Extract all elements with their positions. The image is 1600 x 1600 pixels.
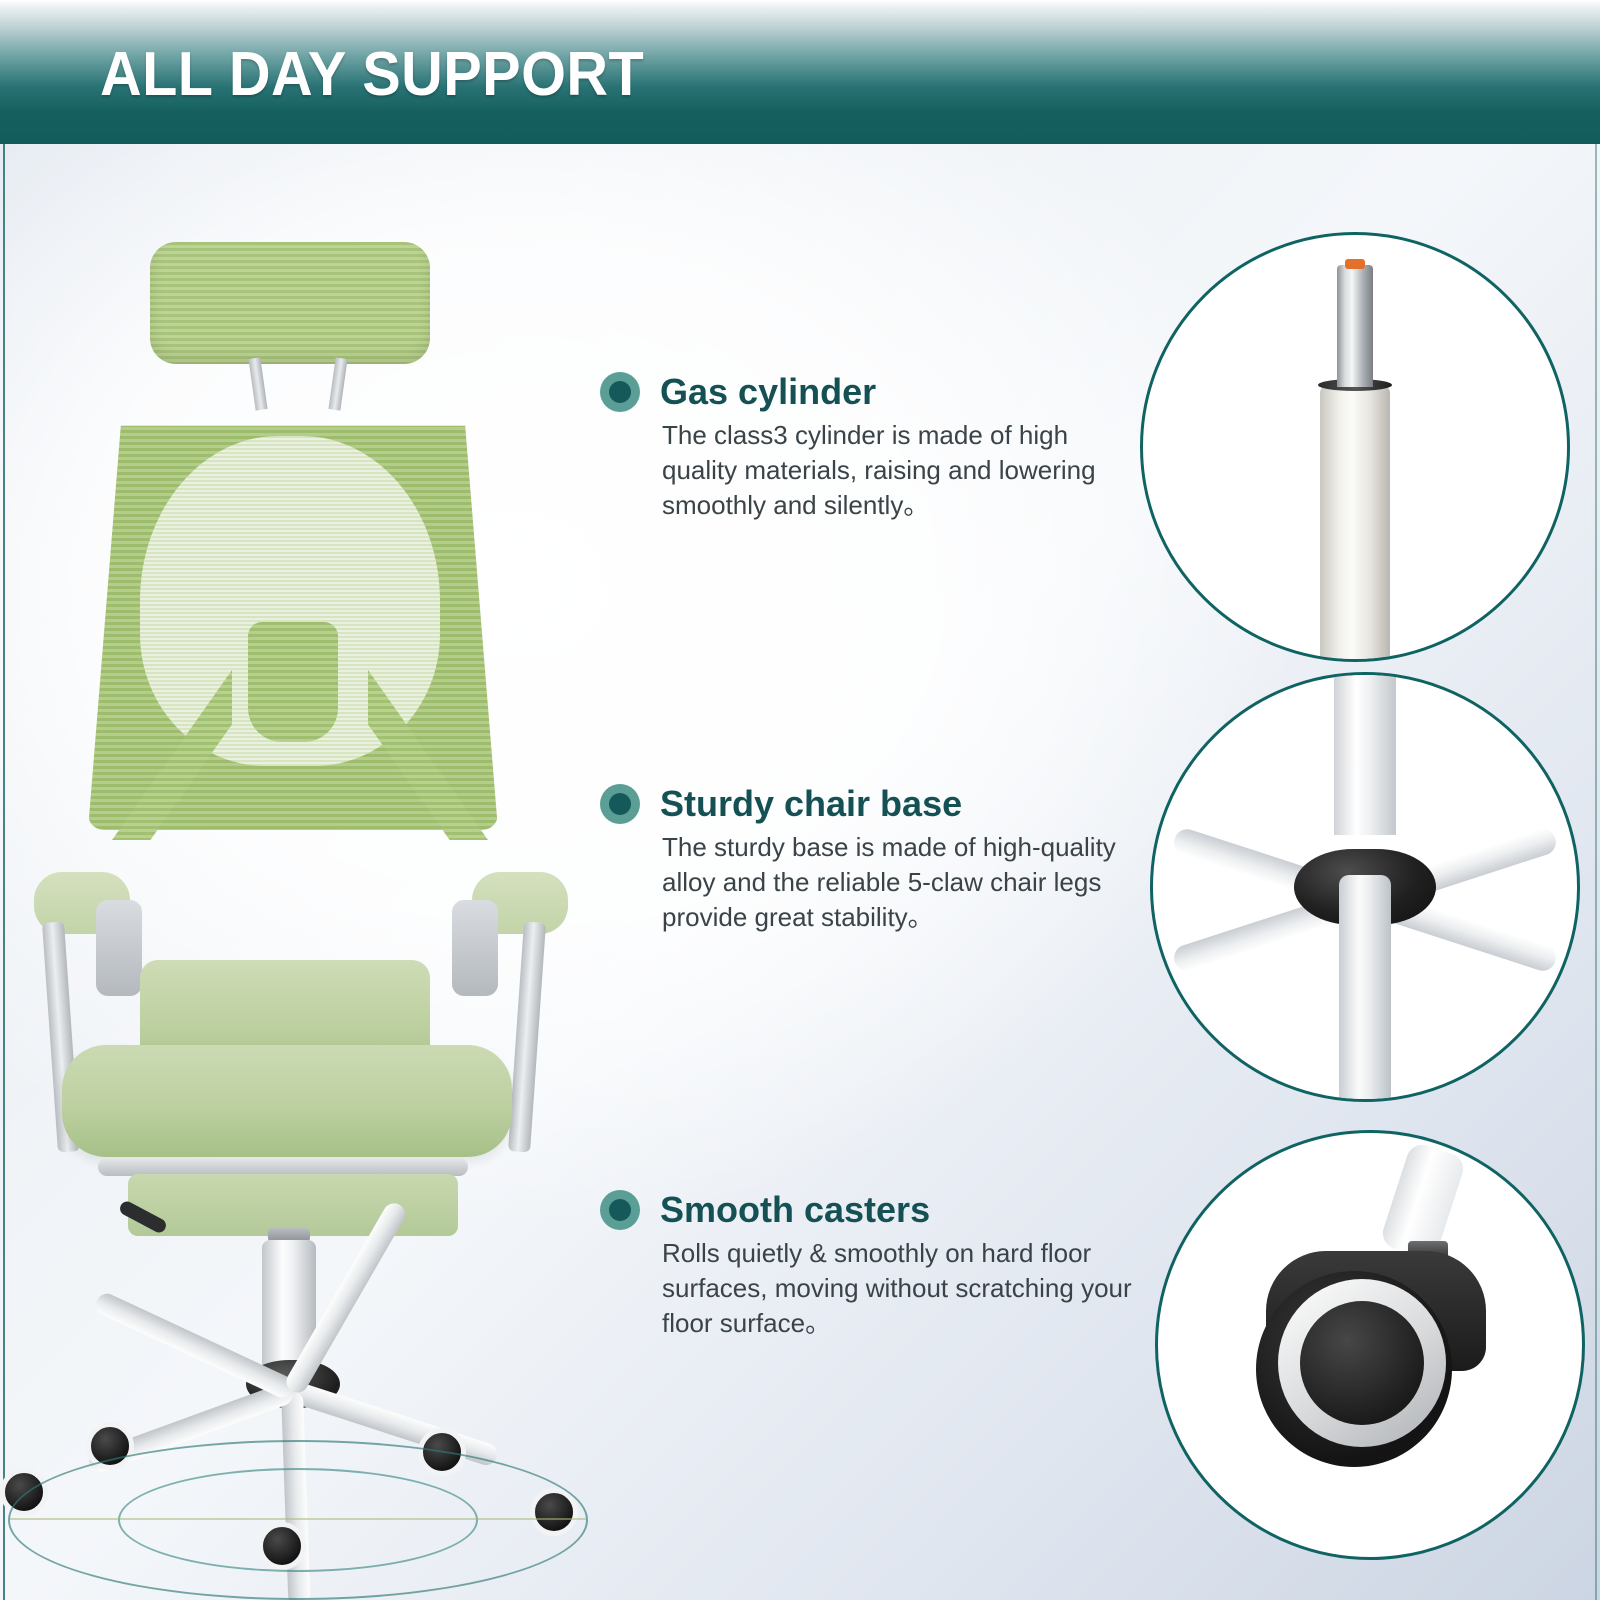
feature-title: Sturdy chair base [660, 784, 962, 824]
feature-title: Gas cylinder [660, 372, 876, 412]
gas-cylinder-chrome-rod [1337, 265, 1373, 387]
feature-title: Smooth casters [660, 1190, 930, 1230]
feature-description: Rolls quietly & smoothly on hard floor s… [662, 1236, 1142, 1340]
floor-radius-axis-line [10, 1518, 586, 1520]
base-column-lower [1339, 875, 1391, 1102]
feature-heading-row: Smooth casters [600, 1190, 1142, 1230]
armrest-bracket-left [96, 900, 142, 996]
filled-circle-bullet-icon [600, 1190, 640, 1230]
feature-item-gas-cylinder: Gas cylinder The class3 cylinder is made… [600, 372, 1142, 522]
armrest-bracket-right [452, 900, 498, 996]
backrest-center-tab [248, 622, 338, 742]
chair-base-art [1153, 675, 1577, 1099]
caster-hubcap [1300, 1301, 1424, 1425]
filled-circle-bullet-icon [600, 372, 640, 412]
detail-circle-gas-cylinder [1140, 232, 1570, 662]
detail-circle-chair-base [1150, 672, 1580, 1102]
feature-item-smooth-casters: Smooth casters Rolls quietly & smoothly … [600, 1190, 1142, 1340]
feature-item-sturdy-chair-base: Sturdy chair base The sturdy base is mad… [600, 784, 1142, 934]
feature-heading-row: Gas cylinder [600, 372, 1142, 412]
gas-cylinder-orange-cap [1345, 259, 1365, 269]
floor-radius-inner-ellipse [118, 1468, 478, 1572]
right-border-line [1595, 144, 1597, 1600]
feature-description: The sturdy base is made of high-quality … [662, 830, 1142, 934]
base-column-upper [1334, 675, 1396, 835]
product-chair-image [0, 200, 600, 1440]
infographic-page: ALL DAY SUPPORT [0, 0, 1600, 1600]
chair-headrest [150, 242, 430, 364]
feature-heading-row: Sturdy chair base [600, 784, 1142, 824]
page-title: ALL DAY SUPPORT [100, 44, 644, 106]
retractable-footrest [128, 1174, 458, 1236]
gas-cylinder-sleeve [1320, 385, 1390, 662]
filled-circle-bullet-icon [600, 784, 640, 824]
feature-description: The class3 cylinder is made of high qual… [662, 418, 1142, 522]
seat-cushion [62, 1045, 512, 1157]
detail-circle-caster [1155, 1130, 1585, 1560]
armrest-post-right [508, 922, 546, 1153]
headrest-stem-left [248, 357, 267, 410]
headrest-stem-right [328, 357, 347, 410]
